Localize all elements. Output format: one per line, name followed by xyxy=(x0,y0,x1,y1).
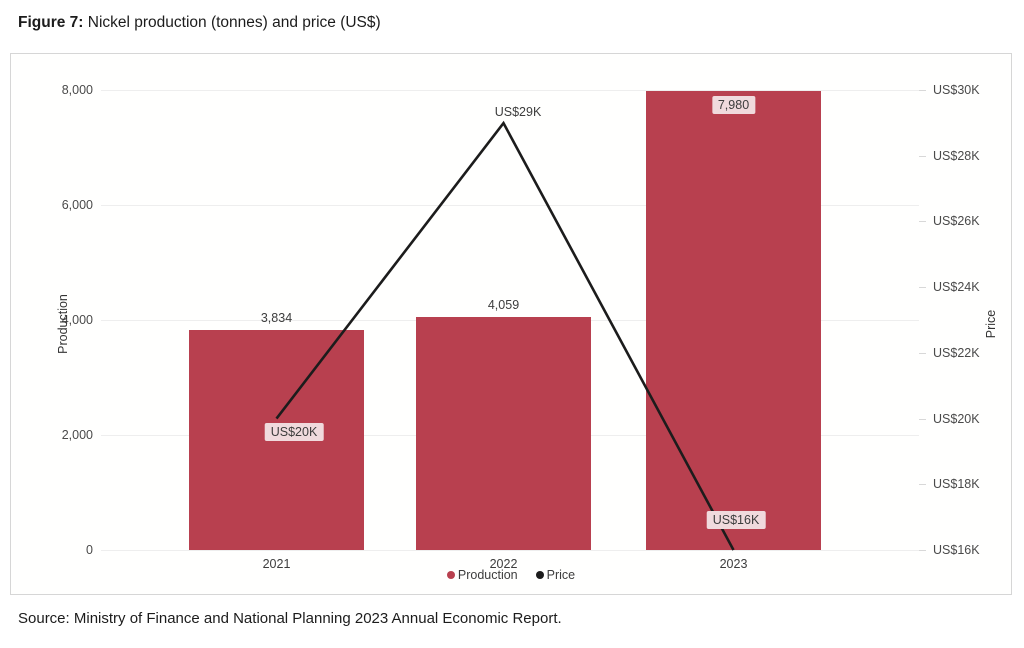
y2-tick-mark-20000 xyxy=(919,419,926,420)
bar-2023[interactable] xyxy=(646,91,821,550)
y2-tick-mark-28000 xyxy=(919,156,926,157)
y-axis-tick-8000: 8,000 xyxy=(62,83,93,97)
y-axis-tick-2000: 2,000 xyxy=(62,428,93,442)
bar-label-2023: 7,980 xyxy=(712,96,755,114)
y2-tick-mark-24000 xyxy=(919,287,926,288)
figure-title: Nickel production (tonnes) and price (US… xyxy=(83,14,380,31)
y2-axis-tick-26000: US$26K xyxy=(933,214,980,228)
dot-marker-icon xyxy=(536,571,544,579)
price-label-2023: US$16K xyxy=(707,511,766,529)
plot-area: 8,000 6,000 4,000 2,000 0 Production US$… xyxy=(11,54,1011,594)
chart-card: 8,000 6,000 4,000 2,000 0 Production US$… xyxy=(10,53,1012,595)
y2-tick-mark-18000 xyxy=(919,484,926,485)
bar-label-2021: 3,834 xyxy=(261,311,292,325)
figure-number: Figure 7: xyxy=(18,14,83,31)
y-axis-title-production: Production xyxy=(56,294,70,354)
y2-axis-tick-24000: US$24K xyxy=(933,280,980,294)
y2-axis-title-price: Price xyxy=(984,310,998,338)
y2-axis-tick-30000: US$30K xyxy=(933,83,980,97)
legend-item-price[interactable]: Price xyxy=(536,568,575,582)
dot-marker-icon xyxy=(447,571,455,579)
chart-legend: Production Price xyxy=(11,568,1011,582)
y2-axis-tick-16000: US$16K xyxy=(933,543,980,557)
y2-tick-mark-30000 xyxy=(919,90,926,91)
y2-axis-tick-20000: US$20K xyxy=(933,412,980,426)
price-label-2022: US$29K xyxy=(495,105,542,119)
y2-axis-tick-28000: US$28K xyxy=(933,149,980,163)
y2-tick-mark-16000 xyxy=(919,550,926,551)
legend-label-production: Production xyxy=(458,568,518,582)
y2-tick-mark-26000 xyxy=(919,221,926,222)
bar-label-2022: 4,059 xyxy=(488,298,519,312)
legend-item-production[interactable]: Production xyxy=(447,568,518,582)
gridline-0 xyxy=(101,550,919,551)
y-axis-tick-6000: 6,000 xyxy=(62,198,93,212)
y-axis-tick-0: 0 xyxy=(86,543,93,557)
source-note: Source: Ministry of Finance and National… xyxy=(18,610,562,627)
figure-caption: Figure 7: Nickel production (tonnes) and… xyxy=(18,14,381,32)
legend-label-price: Price xyxy=(547,568,575,582)
y2-axis-tick-18000: US$18K xyxy=(933,477,980,491)
bar-2022[interactable] xyxy=(416,317,591,550)
y2-axis-tick-22000: US$22K xyxy=(933,346,980,360)
y2-tick-mark-22000 xyxy=(919,353,926,354)
price-label-2021: US$20K xyxy=(265,423,324,441)
